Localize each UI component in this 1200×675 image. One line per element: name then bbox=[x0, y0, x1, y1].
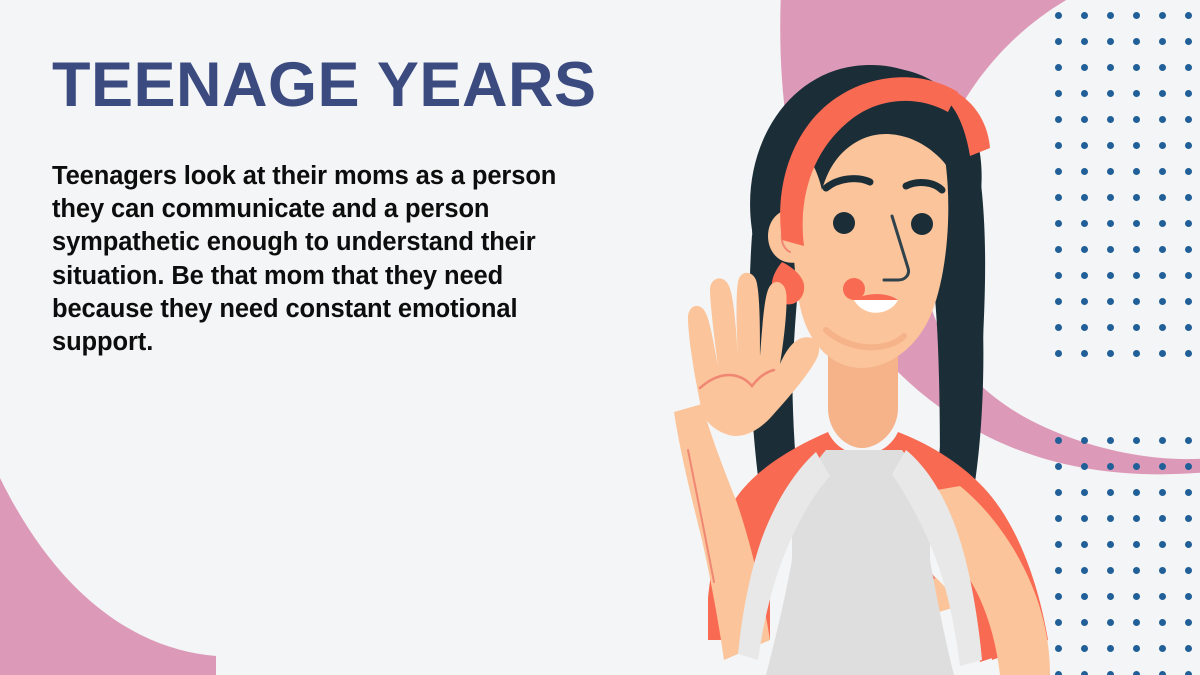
dot bbox=[1133, 246, 1140, 253]
page-title: TEENAGE YEARS bbox=[52, 52, 652, 118]
dot bbox=[1159, 194, 1166, 201]
dot bbox=[1185, 567, 1192, 574]
dot bbox=[1185, 350, 1192, 357]
dot bbox=[1081, 168, 1088, 175]
dot bbox=[1185, 116, 1192, 123]
dot bbox=[1133, 168, 1140, 175]
dot bbox=[1159, 272, 1166, 279]
dot bbox=[1133, 619, 1140, 626]
dot bbox=[1081, 463, 1088, 470]
eye-right bbox=[911, 213, 933, 235]
dot bbox=[1133, 593, 1140, 600]
dot bbox=[1133, 671, 1140, 675]
dot bbox=[1159, 515, 1166, 522]
dot bbox=[1081, 142, 1088, 149]
dot bbox=[1081, 116, 1088, 123]
dot bbox=[1107, 64, 1114, 71]
dot bbox=[1159, 619, 1166, 626]
dot bbox=[1107, 541, 1114, 548]
dot bbox=[1185, 298, 1192, 305]
dot bbox=[1159, 64, 1166, 71]
text-block: TEENAGE YEARS Teenagers look at their mo… bbox=[52, 52, 652, 359]
dot bbox=[1133, 515, 1140, 522]
dot bbox=[1159, 298, 1166, 305]
dot bbox=[1133, 12, 1140, 19]
dot bbox=[1185, 12, 1192, 19]
body-paragraph: Teenagers look at their moms as a person… bbox=[52, 160, 600, 359]
dot bbox=[1133, 645, 1140, 652]
dot bbox=[1159, 463, 1166, 470]
dot bbox=[1081, 298, 1088, 305]
dot bbox=[1159, 142, 1166, 149]
dot bbox=[1159, 593, 1166, 600]
dot bbox=[1081, 541, 1088, 548]
dot bbox=[1081, 90, 1088, 97]
dot bbox=[1159, 220, 1166, 227]
dot bbox=[1081, 64, 1088, 71]
dot bbox=[1159, 437, 1166, 444]
dot bbox=[1081, 220, 1088, 227]
dot bbox=[1185, 272, 1192, 279]
apron-skirt bbox=[766, 560, 954, 675]
dot bbox=[1081, 489, 1088, 496]
dot bbox=[1107, 168, 1114, 175]
dot bbox=[1107, 90, 1114, 97]
dot bbox=[1107, 246, 1114, 253]
dot bbox=[1133, 90, 1140, 97]
dot bbox=[1159, 324, 1166, 331]
dot bbox=[1159, 38, 1166, 45]
dot bbox=[1081, 272, 1088, 279]
dot bbox=[1159, 116, 1166, 123]
dot bbox=[1185, 220, 1192, 227]
dot bbox=[1133, 194, 1140, 201]
dot bbox=[1107, 463, 1114, 470]
dot bbox=[1159, 90, 1166, 97]
dot bbox=[1159, 350, 1166, 357]
dot bbox=[1081, 645, 1088, 652]
dot bbox=[1081, 515, 1088, 522]
dot bbox=[1185, 246, 1192, 253]
dot bbox=[1107, 142, 1114, 149]
dot bbox=[1185, 38, 1192, 45]
dot bbox=[1107, 116, 1114, 123]
dot bbox=[1107, 593, 1114, 600]
dot bbox=[1107, 194, 1114, 201]
dot bbox=[1107, 515, 1114, 522]
dot bbox=[1081, 38, 1088, 45]
dot bbox=[1159, 246, 1166, 253]
blush bbox=[843, 278, 865, 300]
woman-waving-illustration bbox=[640, 0, 1080, 675]
dot bbox=[1159, 671, 1166, 675]
dot bbox=[1133, 298, 1140, 305]
dot bbox=[1107, 272, 1114, 279]
dot bbox=[1107, 437, 1114, 444]
dot bbox=[1185, 645, 1192, 652]
dot bbox=[1081, 12, 1088, 19]
dot bbox=[1185, 619, 1192, 626]
dot bbox=[1107, 220, 1114, 227]
dot bbox=[1133, 142, 1140, 149]
dot bbox=[1159, 12, 1166, 19]
dot bbox=[1185, 463, 1192, 470]
dot bbox=[1081, 194, 1088, 201]
dot bbox=[1133, 567, 1140, 574]
dot bbox=[1185, 64, 1192, 71]
dot bbox=[1185, 437, 1192, 444]
dot bbox=[1159, 645, 1166, 652]
dot bbox=[1185, 142, 1192, 149]
dot bbox=[1107, 38, 1114, 45]
dot bbox=[1133, 463, 1140, 470]
dot bbox=[1159, 541, 1166, 548]
dot bbox=[1107, 645, 1114, 652]
dot bbox=[1133, 64, 1140, 71]
dot bbox=[1159, 567, 1166, 574]
dot bbox=[1133, 272, 1140, 279]
dot bbox=[1107, 324, 1114, 331]
dot bbox=[1185, 515, 1192, 522]
dot bbox=[1081, 593, 1088, 600]
dot bbox=[1107, 298, 1114, 305]
dot bbox=[1133, 541, 1140, 548]
dot bbox=[1185, 593, 1192, 600]
eye-left bbox=[833, 212, 855, 234]
dot bbox=[1185, 671, 1192, 675]
dot bbox=[1081, 437, 1088, 444]
dot bbox=[1133, 38, 1140, 45]
slide-canvas: TEENAGE YEARS Teenagers look at their mo… bbox=[0, 0, 1200, 675]
dot bbox=[1081, 671, 1088, 675]
dot bbox=[1133, 324, 1140, 331]
dot bbox=[1133, 437, 1140, 444]
dot bbox=[1081, 246, 1088, 253]
dot bbox=[1185, 168, 1192, 175]
dot bbox=[1133, 350, 1140, 357]
dot bbox=[1107, 671, 1114, 675]
dot bbox=[1081, 619, 1088, 626]
dot bbox=[1133, 116, 1140, 123]
dot bbox=[1081, 567, 1088, 574]
dot bbox=[1107, 567, 1114, 574]
dot bbox=[1185, 489, 1192, 496]
dot bbox=[1107, 619, 1114, 626]
dot bbox=[1107, 12, 1114, 19]
dot bbox=[1081, 350, 1088, 357]
dot bbox=[1133, 220, 1140, 227]
dot bbox=[1159, 168, 1166, 175]
dot bbox=[1133, 489, 1140, 496]
dot bbox=[1185, 194, 1192, 201]
dot bbox=[1107, 489, 1114, 496]
dot bbox=[1185, 90, 1192, 97]
dot bbox=[1081, 324, 1088, 331]
dot bbox=[1159, 489, 1166, 496]
dot bbox=[1185, 541, 1192, 548]
dot bbox=[1185, 324, 1192, 331]
dot bbox=[1107, 350, 1114, 357]
